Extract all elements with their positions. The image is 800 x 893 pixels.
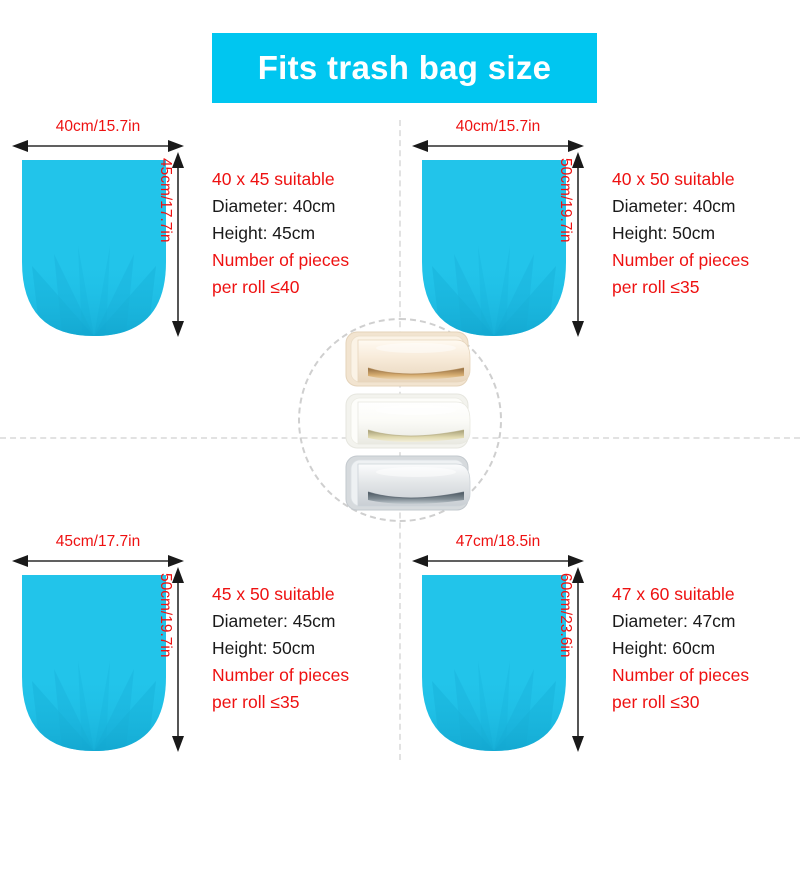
infographic-canvas: Fits trash bag size bbox=[0, 0, 800, 800]
spec-pieces-line1: Number of pieces bbox=[212, 247, 402, 274]
height-dimension: 50cm/19.7in bbox=[570, 152, 614, 337]
wall-dispenser-icon bbox=[344, 328, 474, 390]
trash-bag-illustration bbox=[418, 573, 570, 753]
spec-title: 45 x 50 suitable bbox=[212, 581, 402, 608]
spec-title: 40 x 50 suitable bbox=[612, 166, 800, 193]
spec-height: Height: 60cm bbox=[612, 635, 800, 662]
spec-title: 47 x 60 suitable bbox=[612, 581, 800, 608]
product-dispenser-beige bbox=[344, 328, 474, 390]
spec-pieces-line1: Number of pieces bbox=[212, 662, 402, 689]
double-arrow-horizontal-icon bbox=[412, 138, 584, 154]
wall-dispenser-icon bbox=[344, 452, 474, 514]
width-dimension-label: 47cm/18.5in bbox=[412, 533, 584, 551]
trash-bag-icon bbox=[418, 158, 570, 338]
trash-bag-icon bbox=[418, 573, 570, 753]
trash-bag-illustration bbox=[18, 158, 170, 338]
spec-pieces-line1: Number of pieces bbox=[612, 662, 800, 689]
width-dimension-label: 40cm/15.7in bbox=[412, 118, 584, 136]
height-dimension-label: 50cm/19.7in bbox=[556, 158, 574, 242]
header-banner: Fits trash bag size bbox=[212, 33, 597, 103]
width-dimension: 40cm/15.7in bbox=[12, 118, 184, 158]
wall-dispenser-icon bbox=[344, 390, 474, 452]
spec-pieces-line2: per roll ≤35 bbox=[612, 274, 800, 301]
double-arrow-horizontal-icon bbox=[12, 138, 184, 154]
spec-pieces-line2: per roll ≤40 bbox=[212, 274, 402, 301]
spec-block: 45 x 50 suitable Diameter: 45cm Height: … bbox=[212, 581, 402, 716]
spec-block: 47 x 60 suitable Diameter: 47cm Height: … bbox=[612, 581, 800, 716]
width-dimension: 47cm/18.5in bbox=[412, 533, 584, 573]
spec-height: Height: 45cm bbox=[212, 220, 402, 247]
height-dimension: 60cm/23.6in bbox=[570, 567, 614, 752]
double-arrow-horizontal-icon bbox=[412, 553, 584, 569]
quadrant-bottom-left: 45cm/17.7in 50cm/19.7in 45 x 50 suitable… bbox=[0, 533, 400, 893]
width-dimension: 45cm/17.7in bbox=[12, 533, 184, 573]
double-arrow-horizontal-icon bbox=[12, 553, 184, 569]
spec-block: 40 x 50 suitable Diameter: 40cm Height: … bbox=[612, 166, 800, 301]
spec-pieces-line2: per roll ≤30 bbox=[612, 689, 800, 716]
spec-title: 40 x 45 suitable bbox=[212, 166, 402, 193]
spec-height: Height: 50cm bbox=[612, 220, 800, 247]
product-cluster bbox=[298, 318, 502, 522]
trash-bag-illustration bbox=[18, 573, 170, 753]
spec-diameter: Diameter: 40cm bbox=[212, 193, 402, 220]
spec-height: Height: 50cm bbox=[212, 635, 402, 662]
quadrant-bottom-right: 47cm/18.5in 60cm/23.6in 47 x 60 suitable… bbox=[400, 533, 800, 893]
height-dimension-label: 45cm/17.7in bbox=[156, 158, 174, 242]
spec-diameter: Diameter: 40cm bbox=[612, 193, 800, 220]
trash-bag-illustration bbox=[418, 158, 570, 338]
width-dimension: 40cm/15.7in bbox=[412, 118, 584, 158]
spec-diameter: Diameter: 45cm bbox=[212, 608, 402, 635]
spec-diameter: Diameter: 47cm bbox=[612, 608, 800, 635]
trash-bag-icon bbox=[18, 158, 170, 338]
height-dimension: 45cm/17.7in bbox=[170, 152, 214, 337]
product-dispenser-white bbox=[344, 390, 474, 452]
spec-pieces-line2: per roll ≤35 bbox=[212, 689, 402, 716]
trash-bag-icon bbox=[18, 573, 170, 753]
height-dimension: 50cm/19.7in bbox=[170, 567, 214, 752]
width-dimension-label: 45cm/17.7in bbox=[12, 533, 184, 551]
height-dimension-label: 60cm/23.6in bbox=[556, 573, 574, 657]
page-title: Fits trash bag size bbox=[258, 49, 552, 87]
width-dimension-label: 40cm/15.7in bbox=[12, 118, 184, 136]
product-dispenser-gray bbox=[344, 452, 474, 514]
spec-pieces-line1: Number of pieces bbox=[612, 247, 800, 274]
height-dimension-label: 50cm/19.7in bbox=[156, 573, 174, 657]
spec-block: 40 x 45 suitable Diameter: 40cm Height: … bbox=[212, 166, 402, 301]
